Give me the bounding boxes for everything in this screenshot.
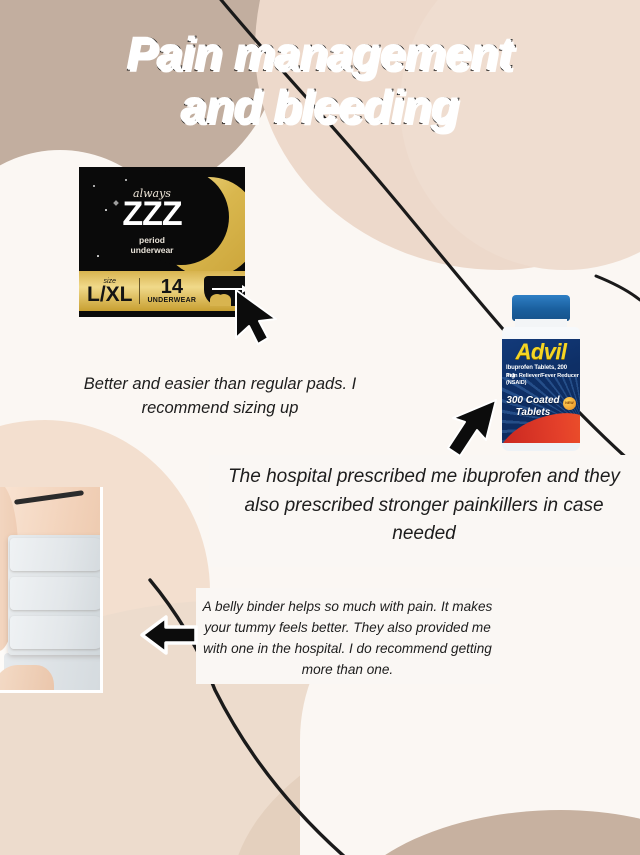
count-label: UNDERWEAR [147, 297, 196, 305]
count-value: 14 [161, 277, 183, 297]
count-block: 14 UNDERWEAR [139, 277, 204, 305]
binder-band-3 [10, 616, 103, 649]
size-block: size L/XL [79, 278, 139, 305]
bottle-body: Advil Ibuprofen Tablets, 200 mg Pain Rel… [502, 327, 580, 451]
cursor-arrow-icon [228, 286, 286, 348]
binder-wrap [8, 535, 103, 655]
advil-line-2: Pain Reliever/Fever Reducer (NSAID) [506, 373, 580, 387]
title-line-2: and bleeding [0, 81, 640, 134]
binder-band-2 [10, 577, 103, 610]
product-name-zzz: ZZZ [109, 197, 195, 231]
title-line-1: Pain management [0, 28, 640, 81]
page-title: Pain management and bleeding [0, 28, 640, 135]
bottle-cap [512, 295, 570, 321]
bottle-label: Advil Ibuprofen Tablets, 200 mg Pain Rel… [502, 339, 580, 443]
product-descriptor: period underwear [109, 235, 195, 255]
caption-ibuprofen: The hospital prescribed me ibuprofen and… [214, 463, 634, 549]
caption-period-underwear: Better and easier than regular pads. I r… [60, 373, 380, 421]
package-gold-bar: size L/XL 14 UNDERWEAR [79, 271, 245, 311]
arrow-left-icon [138, 612, 200, 658]
descriptor-line-1: period [109, 235, 195, 245]
binder-hip [0, 665, 54, 693]
product-image-advil[interactable]: Advil Ibuprofen Tablets, 200 mg Pain Rel… [498, 295, 584, 455]
product-image-period-underwear[interactable]: always ZZZ period underwear size L/XL 14… [79, 167, 245, 317]
product-image-belly-binder[interactable] [0, 487, 103, 693]
advil-brand-name: Advil [502, 341, 580, 363]
arrow-up-right-icon [446, 396, 506, 460]
package-bottom-strip [79, 311, 245, 317]
binder-band-1 [10, 538, 103, 571]
caption-belly-binder: A belly binder helps so much with pain. … [200, 596, 495, 680]
slide-canvas: Pain management and bleeding always ZZZ … [0, 0, 640, 855]
advil-badge-icon: NEW [563, 397, 576, 410]
advil-count-line-1: 300 Coated [502, 395, 564, 407]
size-value: L/XL [87, 284, 133, 305]
divider [139, 278, 140, 304]
descriptor-line-2: underwear [109, 245, 195, 255]
advil-badge-text: NEW [563, 397, 576, 410]
